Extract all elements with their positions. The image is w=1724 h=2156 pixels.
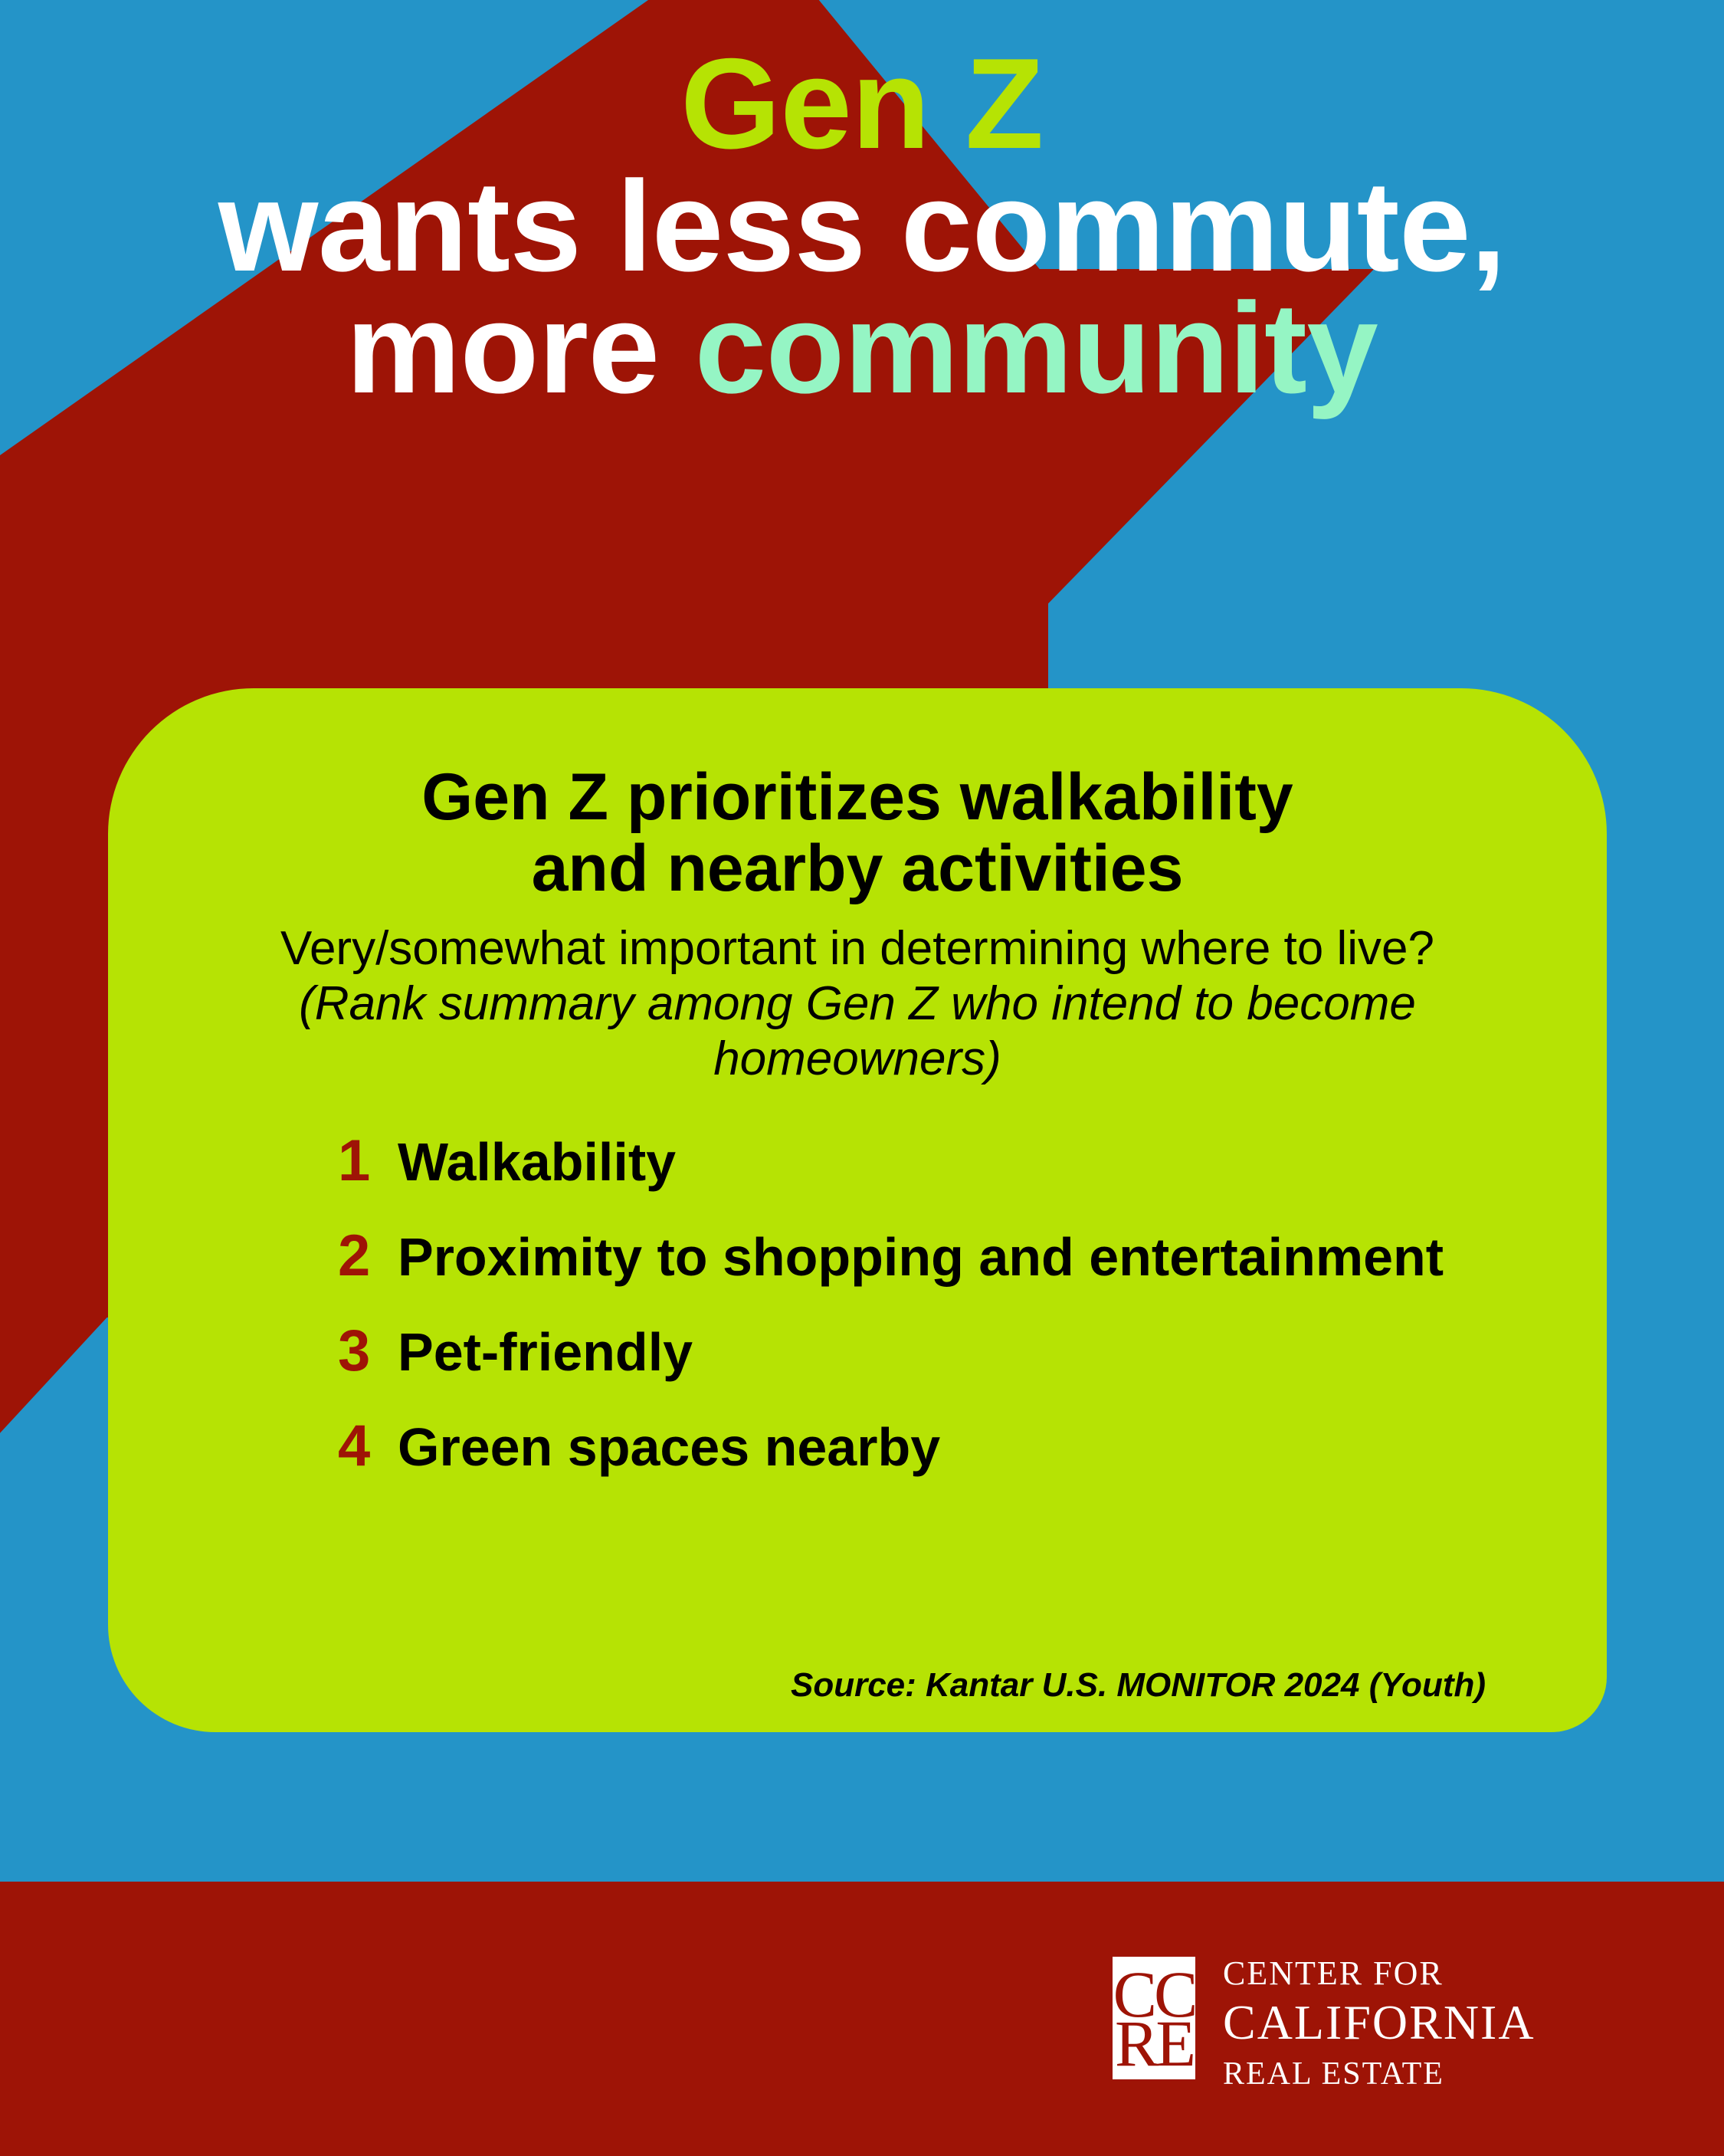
headline-line-3-plain: more xyxy=(346,276,695,420)
rank-label: Green spaces nearby xyxy=(398,1416,940,1478)
rank-label: Pet-friendly xyxy=(398,1321,693,1383)
poster-headline: Gen Z wants less commute, more community xyxy=(0,43,1724,410)
rank-number: 4 xyxy=(338,1413,398,1479)
headline-line-3-accent: community xyxy=(695,276,1378,420)
rank-number: 1 xyxy=(338,1127,398,1194)
card-heading: Gen Z prioritizes walkability and nearby… xyxy=(192,762,1522,904)
headline-line-3: more community xyxy=(0,287,1724,410)
rank-label: Proximity to shopping and entertainment xyxy=(398,1226,1444,1288)
ccre-logo-wordmark: CENTER FOR CALIFORNIA REAL ESTATE xyxy=(1223,1957,1536,2090)
list-item: 2 Proximity to shopping and entertainmen… xyxy=(338,1222,1607,1282)
card-subtitle: Very/somewhat important in determining w… xyxy=(223,921,1492,1087)
card-subtitle-italic: (Rank summary among Gen Z who intend to … xyxy=(299,977,1416,1085)
logo-wordmark-line-3: REAL ESTATE xyxy=(1223,2058,1536,2090)
rank-number: 3 xyxy=(338,1318,398,1384)
content-card: Gen Z prioritizes walkability and nearby… xyxy=(108,688,1607,1732)
logo-wordmark-line-1: CENTER FOR xyxy=(1223,1957,1536,1990)
list-item: 1 Walkability xyxy=(338,1127,1607,1187)
rank-label: Walkability xyxy=(398,1131,676,1193)
rank-number: 2 xyxy=(338,1222,398,1289)
ccre-monogram-icon: CC RE xyxy=(1113,1957,1195,2079)
ranked-priority-list: 1 Walkability 2 Proximity to shopping an… xyxy=(338,1127,1607,1472)
list-item: 4 Green spaces nearby xyxy=(338,1413,1607,1472)
headline-line-2: wants less commute, xyxy=(0,166,1724,288)
headline-line-1: Gen Z xyxy=(0,43,1724,166)
list-item: 3 Pet-friendly xyxy=(338,1318,1607,1377)
ccre-logo-lockup: CC RE CENTER FOR CALIFORNIA REAL ESTATE xyxy=(1113,1957,1536,2090)
monogram-bottom-letters: RE xyxy=(1113,2010,1195,2076)
logo-wordmark-line-2: CALIFORNIA xyxy=(1223,1998,1536,2047)
poster-canvas: Gen Z wants less commute, more community… xyxy=(0,0,1724,2156)
source-attribution: Source: Kantar U.S. MONITOR 2024 (Youth) xyxy=(791,1666,1486,1705)
card-subtitle-plain: Very/somewhat important in determining w… xyxy=(280,922,1434,975)
